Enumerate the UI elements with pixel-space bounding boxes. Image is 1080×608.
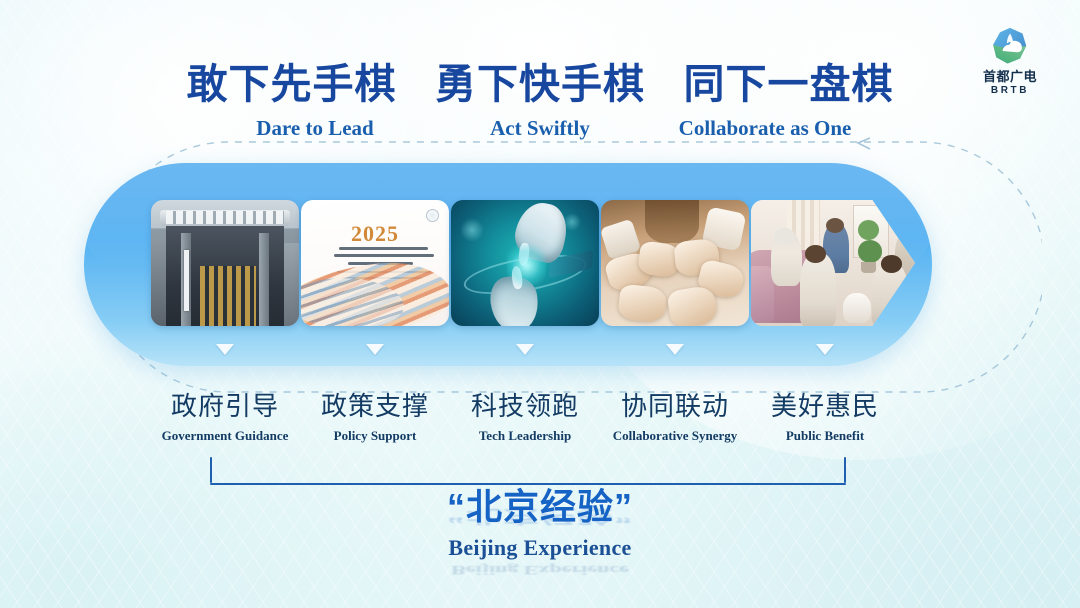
pillar-label-row: 政府引导 Government Guidance 政策支撑 Policy Sup…	[151, 392, 911, 443]
marker-slot-1	[151, 344, 299, 360]
pillar-label-2: 政策支撑 Policy Support	[301, 392, 449, 443]
summary-title-en-reflection: Beijing Experience	[0, 562, 1080, 576]
pillar-label-1: 政府引导 Government Guidance	[151, 392, 299, 443]
down-triangle-icon-2	[366, 344, 384, 355]
pillar-label-cn-4: 协同联动	[601, 392, 749, 422]
marker-slot-2	[301, 344, 449, 360]
pillar-label-en-2: Policy Support	[301, 429, 449, 443]
hands-joined-teamwork-image	[601, 200, 749, 326]
pillar-label-en-5: Public Benefit	[751, 429, 899, 443]
headline-en-part-2: Act Swiftly	[440, 116, 640, 141]
headline-en-part-3: Collaborate as One	[640, 116, 890, 141]
family-living-room-image	[751, 200, 915, 326]
document-year-text: 2025	[301, 221, 449, 247]
pillar-marker-row	[151, 344, 911, 360]
pillar-image-1[interactable]	[151, 200, 299, 326]
pillar-label-cn-3: 科技领跑	[451, 392, 599, 422]
pillar-image-4[interactable]	[601, 200, 749, 326]
headline-cn: 敢下先手棋 勇下快手棋 同下一盘棋	[0, 62, 1080, 107]
marker-slot-3	[451, 344, 599, 360]
document-seal-icon	[426, 209, 439, 222]
slide-canvas: 首都广电 BRTB 敢下先手棋 勇下快手棋 同下一盘棋 Dare to Lead…	[0, 0, 1080, 608]
summary-bracket	[210, 457, 846, 485]
bracket-left-arm	[210, 457, 212, 483]
pillar-image-2[interactable]: 2025	[301, 200, 449, 326]
pillar-label-4: 协同联动 Collaborative Synergy	[601, 392, 749, 443]
down-triangle-icon-4	[666, 344, 684, 355]
down-triangle-icon-3	[516, 344, 534, 355]
headline-cn-part-2: 勇下快手棋	[435, 62, 645, 107]
pillar-label-cn-1: 政府引导	[151, 392, 299, 422]
summary-block: “北京经验” “北京经验” Beijing Experience Beijing…	[0, 487, 1080, 583]
pillar-image-row: 2025	[151, 200, 911, 326]
down-triangle-icon-1	[216, 344, 234, 355]
policy-document-cover-image: 2025	[301, 200, 449, 326]
pillar-label-en-4: Collaborative Synergy	[601, 429, 749, 443]
robot-hand-touching-human-hand-image	[451, 200, 599, 326]
pillar-label-en-3: Tech Leadership	[451, 429, 599, 443]
pillar-label-cn-5: 美好惠民	[751, 392, 899, 422]
bracket-bottom-bar	[210, 483, 846, 485]
summary-title-en: Beijing Experience	[0, 535, 1080, 561]
down-triangle-icon-5	[816, 344, 834, 355]
pillar-label-5: 美好惠民 Public Benefit	[751, 392, 899, 443]
hexagon-cloud-logo-icon	[990, 26, 1030, 66]
headline-en: Dare to Lead Act Swiftly Collaborate as …	[0, 116, 1080, 141]
pillar-image-5[interactable]	[751, 200, 915, 326]
headline-en-part-1: Dare to Lead	[190, 116, 440, 141]
marker-slot-4	[601, 344, 749, 360]
pillar-label-3: 科技领跑 Tech Leadership	[451, 392, 599, 443]
pillar-label-en-1: Government Guidance	[151, 429, 299, 443]
headline: 敢下先手棋 勇下快手棋 同下一盘棋 Dare to Lead Act Swift…	[0, 62, 1080, 141]
bracket-right-arm	[844, 457, 846, 483]
headline-cn-part-3: 同下一盘棋	[684, 62, 894, 107]
marker-slot-5	[751, 344, 899, 360]
pillar-image-3[interactable]	[451, 200, 599, 326]
headline-cn-part-1: 敢下先手棋	[187, 62, 397, 107]
pillar-label-cn-2: 政策支撑	[301, 392, 449, 422]
government-building-entrance-image	[151, 200, 299, 326]
summary-title-cn-reflection: “北京经验”	[0, 516, 1080, 526]
